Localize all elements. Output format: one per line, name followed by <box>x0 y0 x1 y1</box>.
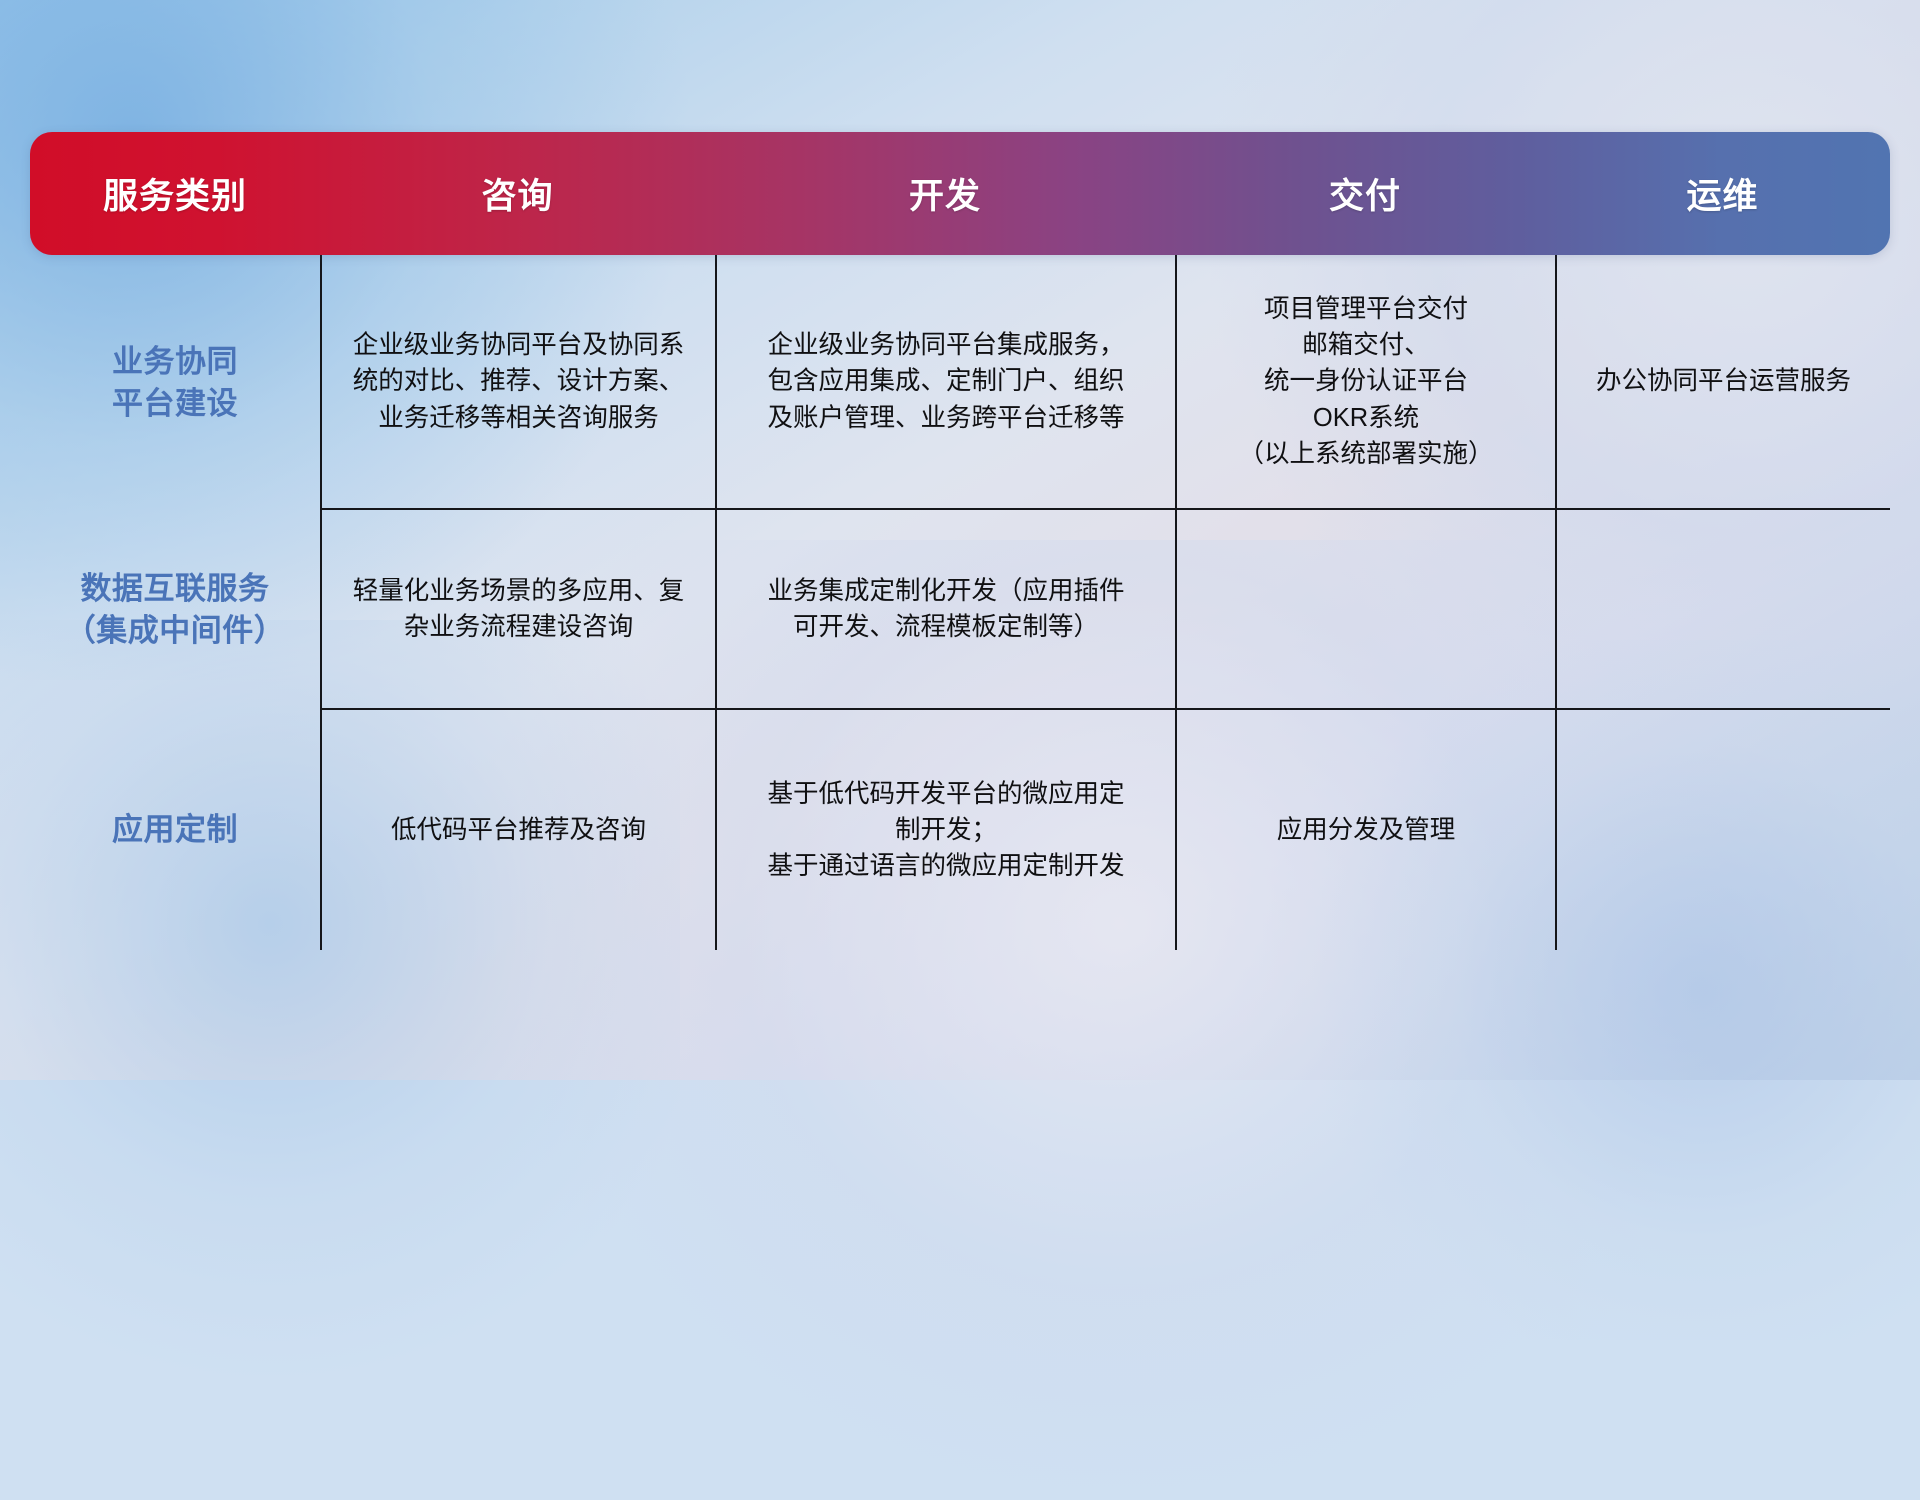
cell-operations-3 <box>1555 710 1890 950</box>
cell-delivery-2 <box>1175 510 1555 710</box>
cell-development-2: 业务集成定制化开发（应用插件 可开发、流程模板定制等） <box>715 510 1175 710</box>
cell-development-3: 基于低代码开发平台的微应用定 制开发； 基于通过语言的微应用定制开发 <box>715 710 1175 950</box>
cell-delivery-3: 应用分发及管理 <box>1175 710 1555 950</box>
column-header-consulting: 咨询 <box>320 168 715 219</box>
service-matrix-table: 服务类别 咨询 开发 交付 运维 业务协同 平台建设 企业级业务协同平台及协同系… <box>30 132 1890 950</box>
table-row: 业务协同 平台建设 企业级业务协同平台及协同系 统的对比、推荐、设计方案、 业务… <box>30 255 1890 510</box>
cell-category-1: 业务协同 平台建设 <box>30 255 320 510</box>
cell-delivery-1: 项目管理平台交付 邮箱交付、 统一身份认证平台 OKR系统 （以上系统部署实施） <box>1175 255 1555 510</box>
table-body: 业务协同 平台建设 企业级业务协同平台及协同系 统的对比、推荐、设计方案、 业务… <box>30 255 1890 950</box>
cell-operations-1: 办公协同平台运营服务 <box>1555 255 1890 510</box>
cell-consulting-3: 低代码平台推荐及咨询 <box>320 710 715 950</box>
cell-category-2: 数据互联服务 （集成中间件） <box>30 510 320 710</box>
column-header-development: 开发 <box>715 168 1175 219</box>
column-header-delivery: 交付 <box>1175 168 1555 219</box>
cell-consulting-2: 轻量化业务场景的多应用、复 杂业务流程建设咨询 <box>320 510 715 710</box>
cell-category-3: 应用定制 <box>30 710 320 950</box>
cell-operations-2 <box>1555 510 1890 710</box>
table-row: 应用定制 低代码平台推荐及咨询 基于低代码开发平台的微应用定 制开发； 基于通过… <box>30 710 1890 950</box>
table-row: 数据互联服务 （集成中间件） 轻量化业务场景的多应用、复 杂业务流程建设咨询 业… <box>30 510 1890 710</box>
column-header-operations: 运维 <box>1555 168 1890 219</box>
table-header-row: 服务类别 咨询 开发 交付 运维 <box>30 132 1890 255</box>
cell-development-1: 企业级业务协同平台集成服务， 包含应用集成、定制门户、组织 及账户管理、业务跨平… <box>715 255 1175 510</box>
column-header-category: 服务类别 <box>30 168 320 219</box>
cell-consulting-1: 企业级业务协同平台及协同系 统的对比、推荐、设计方案、 业务迁移等相关咨询服务 <box>320 255 715 510</box>
